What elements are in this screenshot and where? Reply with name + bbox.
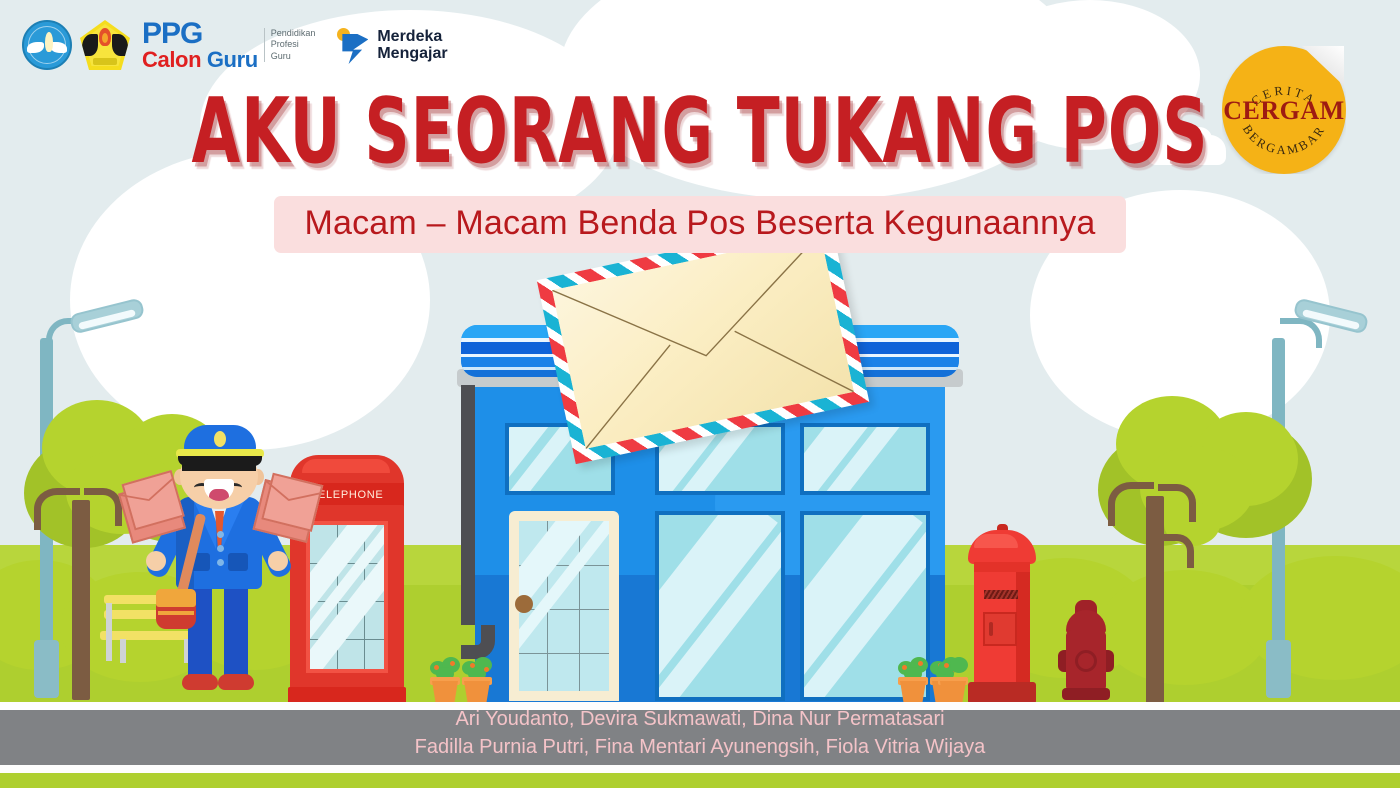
credits-line-1: Ari Youdanto, Devira Sukmawati, Dina Nur… [0,706,1400,734]
display-window-left [655,511,785,701]
merdeka-line-2: Mengajar [377,45,447,62]
credits-line-2: Fadilla Purnia Putri, Fina Mentari Ayune… [0,734,1400,762]
door-knob-icon[interactable] [515,595,533,613]
page-title: AKU SEORANG TUKANG POS [56,78,1344,183]
cap-badge-icon [214,431,226,447]
ppg-calon-text: Calon [142,47,201,72]
merdeka-mengajar-logo: Merdeka Mengajar [337,26,447,64]
cergam-badge: CERITA BERGAMBAR CERGAM [1222,46,1346,174]
logo-divider [264,28,265,62]
upper-window-3 [800,423,930,495]
drain-pipe [461,385,475,625]
tut-wuri-handayani-emblem-icon [22,20,72,70]
subtitle-container: Macam – Macam Benda Pos Beserta Kegunaan… [0,196,1400,253]
page-subtitle: Macam – Macam Benda Pos Beserta Kegunaan… [274,196,1125,253]
ppg-acronym: PPG [142,19,258,49]
ppg-sub-line-3: Guru [271,51,316,62]
university-pentagon-emblem-icon [80,20,130,70]
fire-hydrant [1058,600,1114,704]
telephone-box-glass [306,521,388,673]
entrance-door[interactable] [509,511,619,701]
mailbox-plate [983,612,1017,646]
author-credits: Ari Youdanto, Devira Sukmawati, Dina Nur… [0,706,1400,761]
mail-slot-icon [984,590,1018,599]
road-line-strip [0,765,1400,773]
ppg-sub-line-2: Profesi [271,39,316,50]
poster-canvas: TELEPHONE [0,0,1400,788]
pillar-mailbox[interactable] [968,518,1036,706]
svg-text:BERGAMBAR: BERGAMBAR [1240,122,1328,157]
merdeka-mengajar-mark-icon [337,26,371,64]
bottom-grass-strip [0,773,1400,788]
tree-right [1088,378,1308,708]
ppg-calon-guru-logo: PPG Calon Guru Pendidikan Profesi Guru [142,19,315,71]
merdeka-line-1: Merdeka [377,28,447,45]
header-logo-bar: PPG Calon Guru Pendidikan Profesi Guru M… [22,14,448,76]
ppg-sub-line-1: Pendidikan [271,28,316,39]
ppg-guru-text: Guru [207,47,258,72]
postman-cap [176,425,264,463]
cergam-badge-title: CERGAM [1222,96,1346,126]
postman-character [150,425,290,705]
